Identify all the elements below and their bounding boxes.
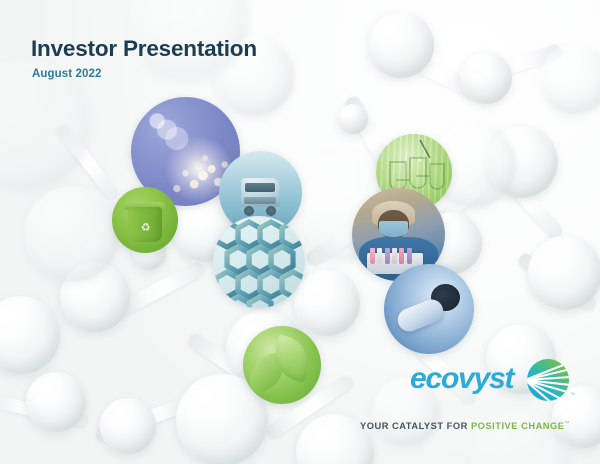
ecovyst-wordmark: ecovyst bbox=[410, 364, 513, 394]
collage-image-recycling-bin: ♻ bbox=[112, 187, 178, 253]
sphere-icon-svg bbox=[521, 356, 573, 406]
sample-vial bbox=[407, 248, 412, 265]
brand-tagline: YOUR CATALYST FOR POSITIVE CHANGE™ bbox=[360, 421, 570, 431]
wordmark-trademark: ™ bbox=[570, 392, 575, 398]
molecule-atom bbox=[26, 372, 86, 432]
truck-windshield bbox=[245, 183, 276, 193]
technician-face-mask bbox=[379, 221, 408, 237]
sample-vial bbox=[392, 248, 397, 265]
sample-vial bbox=[377, 248, 382, 265]
molecule-atom bbox=[338, 104, 368, 134]
collage-image-zeolite-honeycomb bbox=[213, 216, 305, 308]
truck-grille bbox=[244, 197, 276, 204]
truck-wheel bbox=[244, 206, 254, 216]
sample-vial bbox=[385, 248, 390, 265]
tagline-trademark: ™ bbox=[565, 421, 570, 427]
sample-vial bbox=[399, 248, 404, 265]
page-subtitle: August 2022 bbox=[32, 68, 101, 80]
collage-image-green-leaf bbox=[243, 326, 321, 404]
tagline-prefix: YOUR CATALYST FOR bbox=[360, 421, 471, 431]
ecovyst-sphere-icon bbox=[521, 356, 573, 406]
tagline-highlight: POSITIVE CHANGE bbox=[471, 421, 565, 431]
molecule-atom bbox=[0, 296, 60, 374]
molecule-atom bbox=[368, 12, 434, 78]
truck-wheel bbox=[266, 206, 276, 216]
recycle-icon: ♻ bbox=[138, 223, 153, 238]
ecovyst-logo: ecovyst bbox=[410, 358, 590, 406]
collage-image-ev-charger bbox=[384, 264, 474, 354]
presentation-title-slide: ♻ bbox=[0, 0, 600, 464]
sample-vial bbox=[370, 248, 375, 265]
molecule-atom bbox=[100, 398, 156, 454]
honeycomb-svg bbox=[213, 216, 305, 308]
honeycomb-lattice bbox=[213, 216, 305, 308]
molecule-atom bbox=[540, 44, 600, 114]
charging-plug bbox=[394, 296, 446, 335]
page-title: Investor Presentation bbox=[31, 36, 257, 62]
molecule-atom bbox=[528, 236, 600, 310]
molecule-atom bbox=[460, 52, 512, 104]
molecule-atom bbox=[24, 186, 120, 282]
